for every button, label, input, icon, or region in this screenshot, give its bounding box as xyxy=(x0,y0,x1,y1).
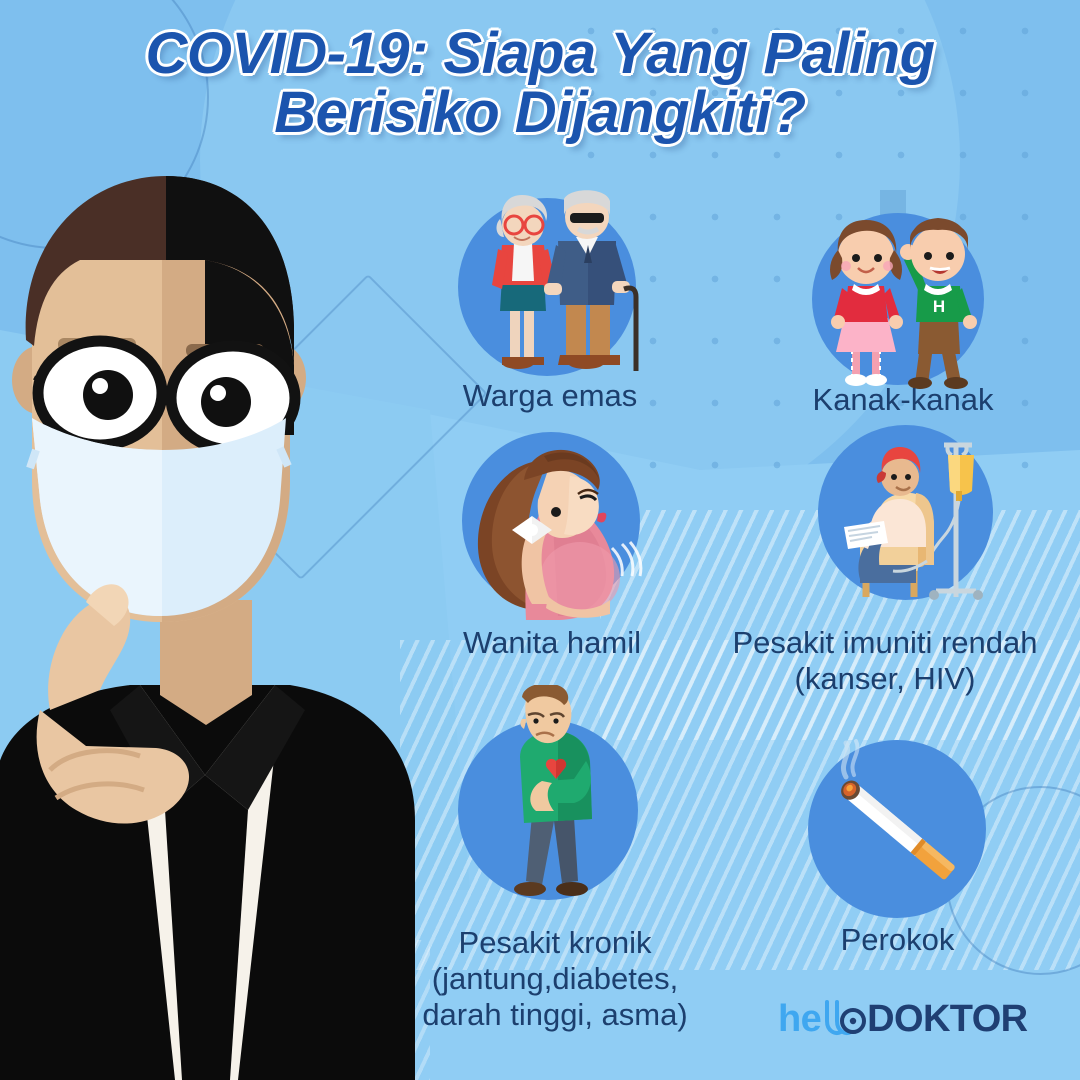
page-title: COVID-19: Siapa Yang Paling Berisiko Dij… xyxy=(0,24,1080,142)
pregnant-woman-icon xyxy=(452,420,652,620)
chest-pain-man-icon xyxy=(450,685,650,915)
risk-item-chronic-label: Pesakit kronik (jantung,diabetes, darah … xyxy=(395,925,715,1033)
title-line-1: COVID-19: Siapa Yang Paling xyxy=(0,24,1080,83)
children-icon: H xyxy=(808,200,993,395)
risk-item-elderly-label: Warga emas xyxy=(410,378,690,414)
stethoscope-icon xyxy=(821,999,867,1041)
risk-item-immune-label: Pesakit imuniti rendah (kanser, HIV) xyxy=(690,625,1080,697)
lit-cigarette-icon xyxy=(808,735,988,925)
risk-item-children-label: Kanak-kanak xyxy=(758,382,1048,418)
elderly-couple-icon xyxy=(458,185,648,385)
chemotherapy-patient-icon xyxy=(808,415,1008,615)
logo-text-hello: he xyxy=(778,998,821,1041)
hellodoktor-logo: he DOKTOR xyxy=(778,998,1028,1041)
svg-text:H: H xyxy=(933,297,945,316)
infographic-poster: COVID-19: Siapa Yang Paling Berisiko Dij… xyxy=(0,0,1080,1080)
risk-item-smoker-label: Perokok xyxy=(790,922,1005,958)
title-line-2: Berisiko Dijangkiti? xyxy=(0,83,1080,142)
risk-item-pregnant-label: Wanita hamil xyxy=(412,625,692,661)
mascot-man-with-mask xyxy=(0,150,420,1080)
logo-text-doktor: DOKTOR xyxy=(867,998,1027,1041)
